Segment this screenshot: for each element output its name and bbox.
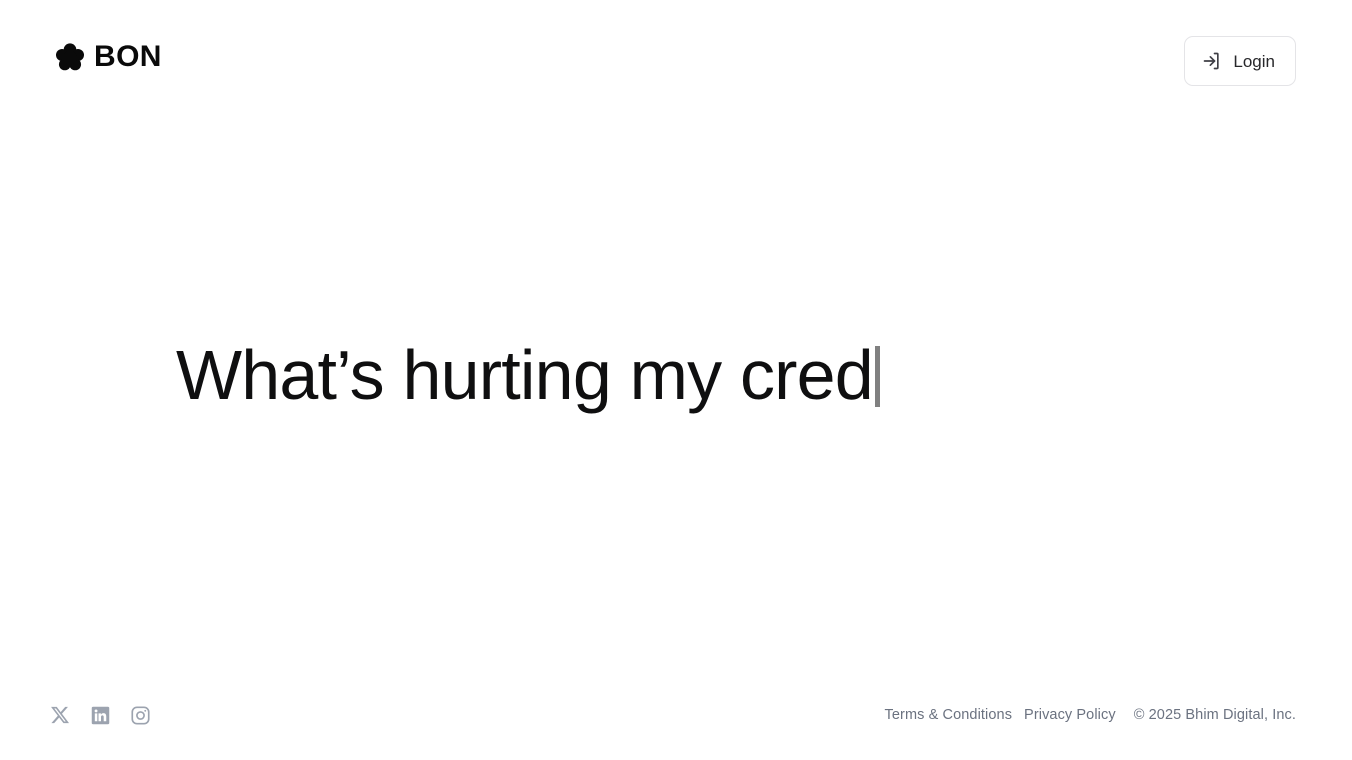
flower-clover-icon xyxy=(56,42,84,72)
login-button-label: Login xyxy=(1233,53,1275,70)
page-title: What’s hurting my cred xyxy=(176,338,880,414)
x-twitter-icon xyxy=(50,705,70,725)
footer-links: Terms & Conditions Privacy Policy © 2025… xyxy=(879,707,1296,723)
hero-content: What’s hurting my cred xyxy=(176,338,880,422)
brand-logo[interactable]: BON xyxy=(56,42,162,72)
social-links xyxy=(48,703,152,727)
login-button[interactable]: Login xyxy=(1184,36,1296,86)
footer-copyright: © 2025 Bhim Digital, Inc. xyxy=(1122,707,1296,723)
footer-link-terms[interactable]: Terms & Conditions xyxy=(879,707,1019,723)
linkedin-icon-link[interactable] xyxy=(88,703,112,727)
instagram-icon-link[interactable] xyxy=(128,703,152,727)
text-caret xyxy=(875,346,880,407)
footer-link-privacy[interactable]: Privacy Policy xyxy=(1018,707,1122,723)
brand-name: BON xyxy=(94,42,162,72)
site-header: BON Login xyxy=(0,0,1352,122)
instagram-icon xyxy=(130,705,151,726)
login-arrow-icon xyxy=(1202,51,1222,71)
site-footer: Terms & Conditions Privacy Policy © 2025… xyxy=(0,670,1352,760)
x-twitter-icon-link[interactable] xyxy=(48,703,72,727)
headline-text: What’s hurting my cred xyxy=(176,338,873,414)
page-root: BON Login What’s hurting my cred xyxy=(0,0,1352,760)
linkedin-icon xyxy=(90,705,111,726)
